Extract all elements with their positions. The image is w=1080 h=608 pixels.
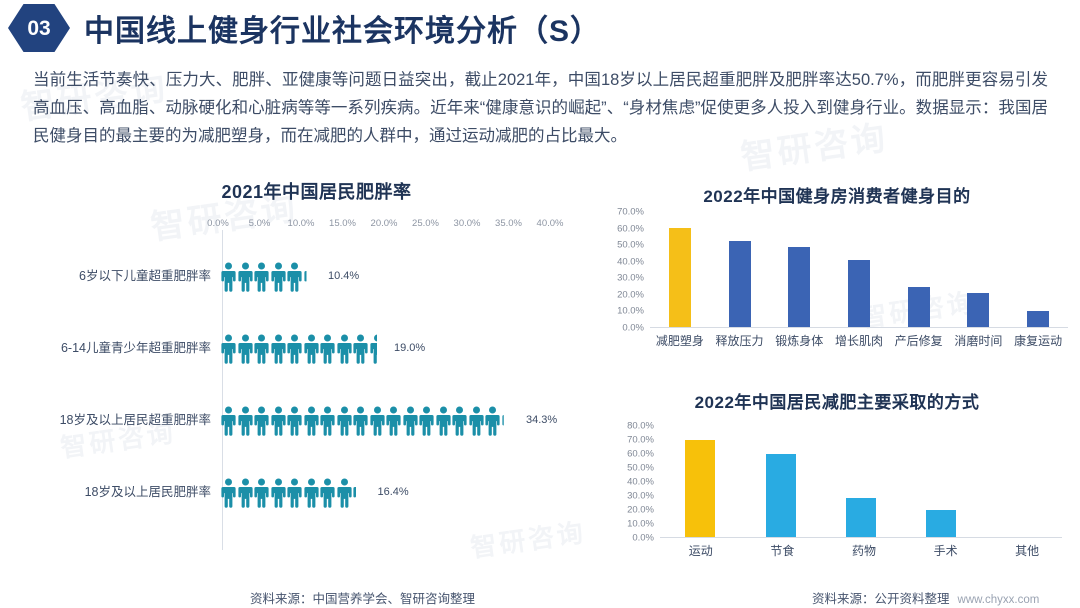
person-icon [221,478,236,508]
source-website-url: www.chyxx.com [958,594,1040,606]
pictogram-row-bar: 10.4% [221,260,590,292]
y-axis-tick: 30.0% [617,273,644,284]
x-axis-tick: 15.0% [329,218,356,229]
pictogram-row-value: 10.4% [328,270,359,282]
x-axis-label: 康复运动 [1014,332,1062,349]
person-icon [287,262,302,292]
pictogram-row-label: 6-14儿童青少年超重肥胖率 [18,341,221,356]
person-icon [452,406,467,436]
bar [1027,311,1049,327]
x-axis-labels: 运动节食药物手术其他 [660,542,1068,559]
person-icon [221,334,236,364]
person-icon [436,406,451,436]
bar [685,440,715,537]
person-icon [485,406,500,436]
pictogram-row-bar: 19.0% [221,332,590,364]
y-axis: 0.0%10.0%20.0%30.0%40.0%50.0%60.0%70.0% [604,212,648,328]
chart-title: 2021年中国居民肥胖率 [43,178,590,204]
x-axis-label: 节食 [770,542,794,559]
person-icon [271,478,286,508]
pictogram-icons [221,332,386,364]
page-title: 中国线上健身行业社会环境分析（S） [84,6,601,50]
x-axis-label: 运动 [689,542,713,559]
pictogram-row-bar: 34.3% [221,404,590,436]
pictogram-icons [221,476,370,508]
x-axis-tick: 10.0% [288,218,315,229]
y-axis-tick: 30.0% [627,491,654,502]
pictogram-row: 18岁及以上居民超重肥胖率 [18,384,590,456]
person-icon [304,406,319,436]
person-icon [304,478,319,508]
y-axis-tick: 80.0% [627,421,654,432]
x-axis-tick: 0.0% [207,218,229,229]
bar [788,247,810,327]
section-number-badge: 03 [8,4,70,52]
y-axis-tick: 40.0% [627,477,654,488]
person-icon [353,334,368,364]
person-icon [320,334,335,364]
plot-area: 0.0%10.0%20.0%30.0%40.0%50.0%60.0%70.0% [604,212,1070,328]
person-icon [370,334,385,364]
person-icon [238,478,253,508]
x-axis-tick: 20.0% [371,218,398,229]
x-axis-label: 其他 [1015,542,1039,559]
x-axis-label: 手术 [934,542,958,559]
pictogram-row-label: 18岁及以上居民超重肥胖率 [18,413,221,428]
x-axis-tick: 30.0% [454,218,481,229]
y-axis-tick: 0.0% [632,533,654,544]
x-axis-label: 释放压力 [716,332,764,349]
x-axis-label: 减肥塑身 [656,332,704,349]
source-note-right: 资料来源：公开资料整理www.chyxx.com [812,588,1039,607]
page-header: 03 中国线上健身行业社会环境分析（S） [0,2,1080,54]
person-icon [254,406,269,436]
bar [848,260,870,327]
x-axis-tick: 35.0% [495,218,522,229]
person-icon [221,406,236,436]
person-icon [238,334,253,364]
bars-container [660,426,1062,538]
y-axis-tick: 20.0% [617,289,644,300]
person-icon [271,262,286,292]
x-axis-label: 消磨时间 [954,332,1002,349]
person-icon [419,406,434,436]
chart-weightloss-method: 2022年中国居民减肥主要采取的方式 0.0%10.0%20.0%30.0%40… [604,388,1070,568]
x-axis-labels: 减肥塑身释放压力锻炼身体增长肌肉产后修复消磨时间康复运动 [650,332,1068,349]
section-number-text: 03 [27,18,50,39]
pictogram-x-axis: 0.0%5.0%10.0%15.0%20.0%25.0%30.0%35.0%40… [218,218,550,234]
x-axis-label: 锻炼身体 [775,332,823,349]
x-axis-label: 药物 [852,542,876,559]
y-axis-tick: 50.0% [617,240,644,251]
y-axis-tick: 40.0% [617,256,644,267]
source-note-left: 资料来源：中国营养学会、智研咨询整理 [250,588,475,607]
bar [766,454,796,537]
person-icon [320,406,335,436]
chart-obesity-pictogram: 2021年中国居民肥胖率 0.0%5.0%10.0%15.0%20.0%25.0… [18,178,590,568]
bar [729,241,751,327]
pictogram-row-value: 19.0% [394,342,425,354]
y-axis-tick: 0.0% [622,323,644,334]
y-axis-tick: 10.0% [627,519,654,530]
bar [967,293,989,327]
person-icon [304,334,319,364]
y-axis-tick: 70.0% [627,435,654,446]
pictogram-row-value: 34.3% [526,414,557,426]
pictogram-row-label: 6岁以下儿童超重肥胖率 [18,269,221,284]
person-icon [254,334,269,364]
y-axis-tick: 20.0% [627,505,654,516]
pictogram-icons [221,260,320,292]
intro-paragraph: 当前生活节奏快、压力大、肥胖、亚健康等问题日益突出，截止2021年，中国18岁以… [33,66,1048,150]
chart-title: 2022年中国健身房消费者健身目的 [604,182,1070,207]
person-icon [337,478,352,508]
pictogram-rows: 6岁以下儿童超重肥胖率 10. [18,240,590,528]
person-icon [386,406,401,436]
pictogram-row: 6-14儿童青少年超重肥胖率 [18,312,590,384]
bar [908,287,930,327]
person-icon [403,406,418,436]
x-axis-label: 产后修复 [895,332,943,349]
y-axis: 0.0%10.0%20.0%30.0%40.0%50.0%60.0%70.0%8… [614,426,658,538]
person-icon [271,406,286,436]
person-icon [238,406,253,436]
bars-container [650,212,1068,328]
source-note-right-text: 资料来源：公开资料整理 [812,592,950,606]
person-icon [320,478,335,508]
bar [926,510,956,537]
x-axis-tick: 5.0% [249,218,271,229]
person-icon [287,334,302,364]
person-icon [337,334,352,364]
pictogram-row-value: 16.4% [378,486,409,498]
y-axis-tick: 10.0% [617,306,644,317]
person-icon [287,406,302,436]
y-axis-tick: 50.0% [627,463,654,474]
person-icon [337,406,352,436]
x-axis-label: 增长肌肉 [835,332,883,349]
y-axis-tick: 70.0% [617,207,644,218]
pictogram-row: 6岁以下儿童超重肥胖率 10. [18,240,590,312]
y-axis-tick: 60.0% [627,449,654,460]
pictogram-row-label: 18岁及以上居民肥胖率 [18,485,221,500]
person-icon [238,262,253,292]
x-axis-tick: 40.0% [537,218,564,229]
person-icon [271,334,286,364]
person-icon [254,478,269,508]
person-icon [221,262,236,292]
pictogram-row-bar: 16.4% [221,476,590,508]
x-axis-tick: 25.0% [412,218,439,229]
person-icon [353,406,368,436]
chart-gym-purpose: 2022年中国健身房消费者健身目的 0.0%10.0%20.0%30.0%40.… [604,182,1070,368]
person-icon [287,478,302,508]
plot-area: 0.0%10.0%20.0%30.0%40.0%50.0%60.0%70.0%8… [614,426,1064,538]
person-icon [254,262,269,292]
pictogram-row: 18岁及以上居民肥胖率 [18,456,590,528]
chart-title: 2022年中国居民减肥主要采取的方式 [604,388,1070,413]
pictogram-icons [221,404,518,436]
person-icon [304,262,319,292]
person-icon [370,406,385,436]
bar [669,228,691,327]
person-icon [469,406,484,436]
y-axis-tick: 60.0% [617,223,644,234]
bar [846,498,876,537]
person-icon [353,478,368,508]
person-icon [502,406,517,436]
